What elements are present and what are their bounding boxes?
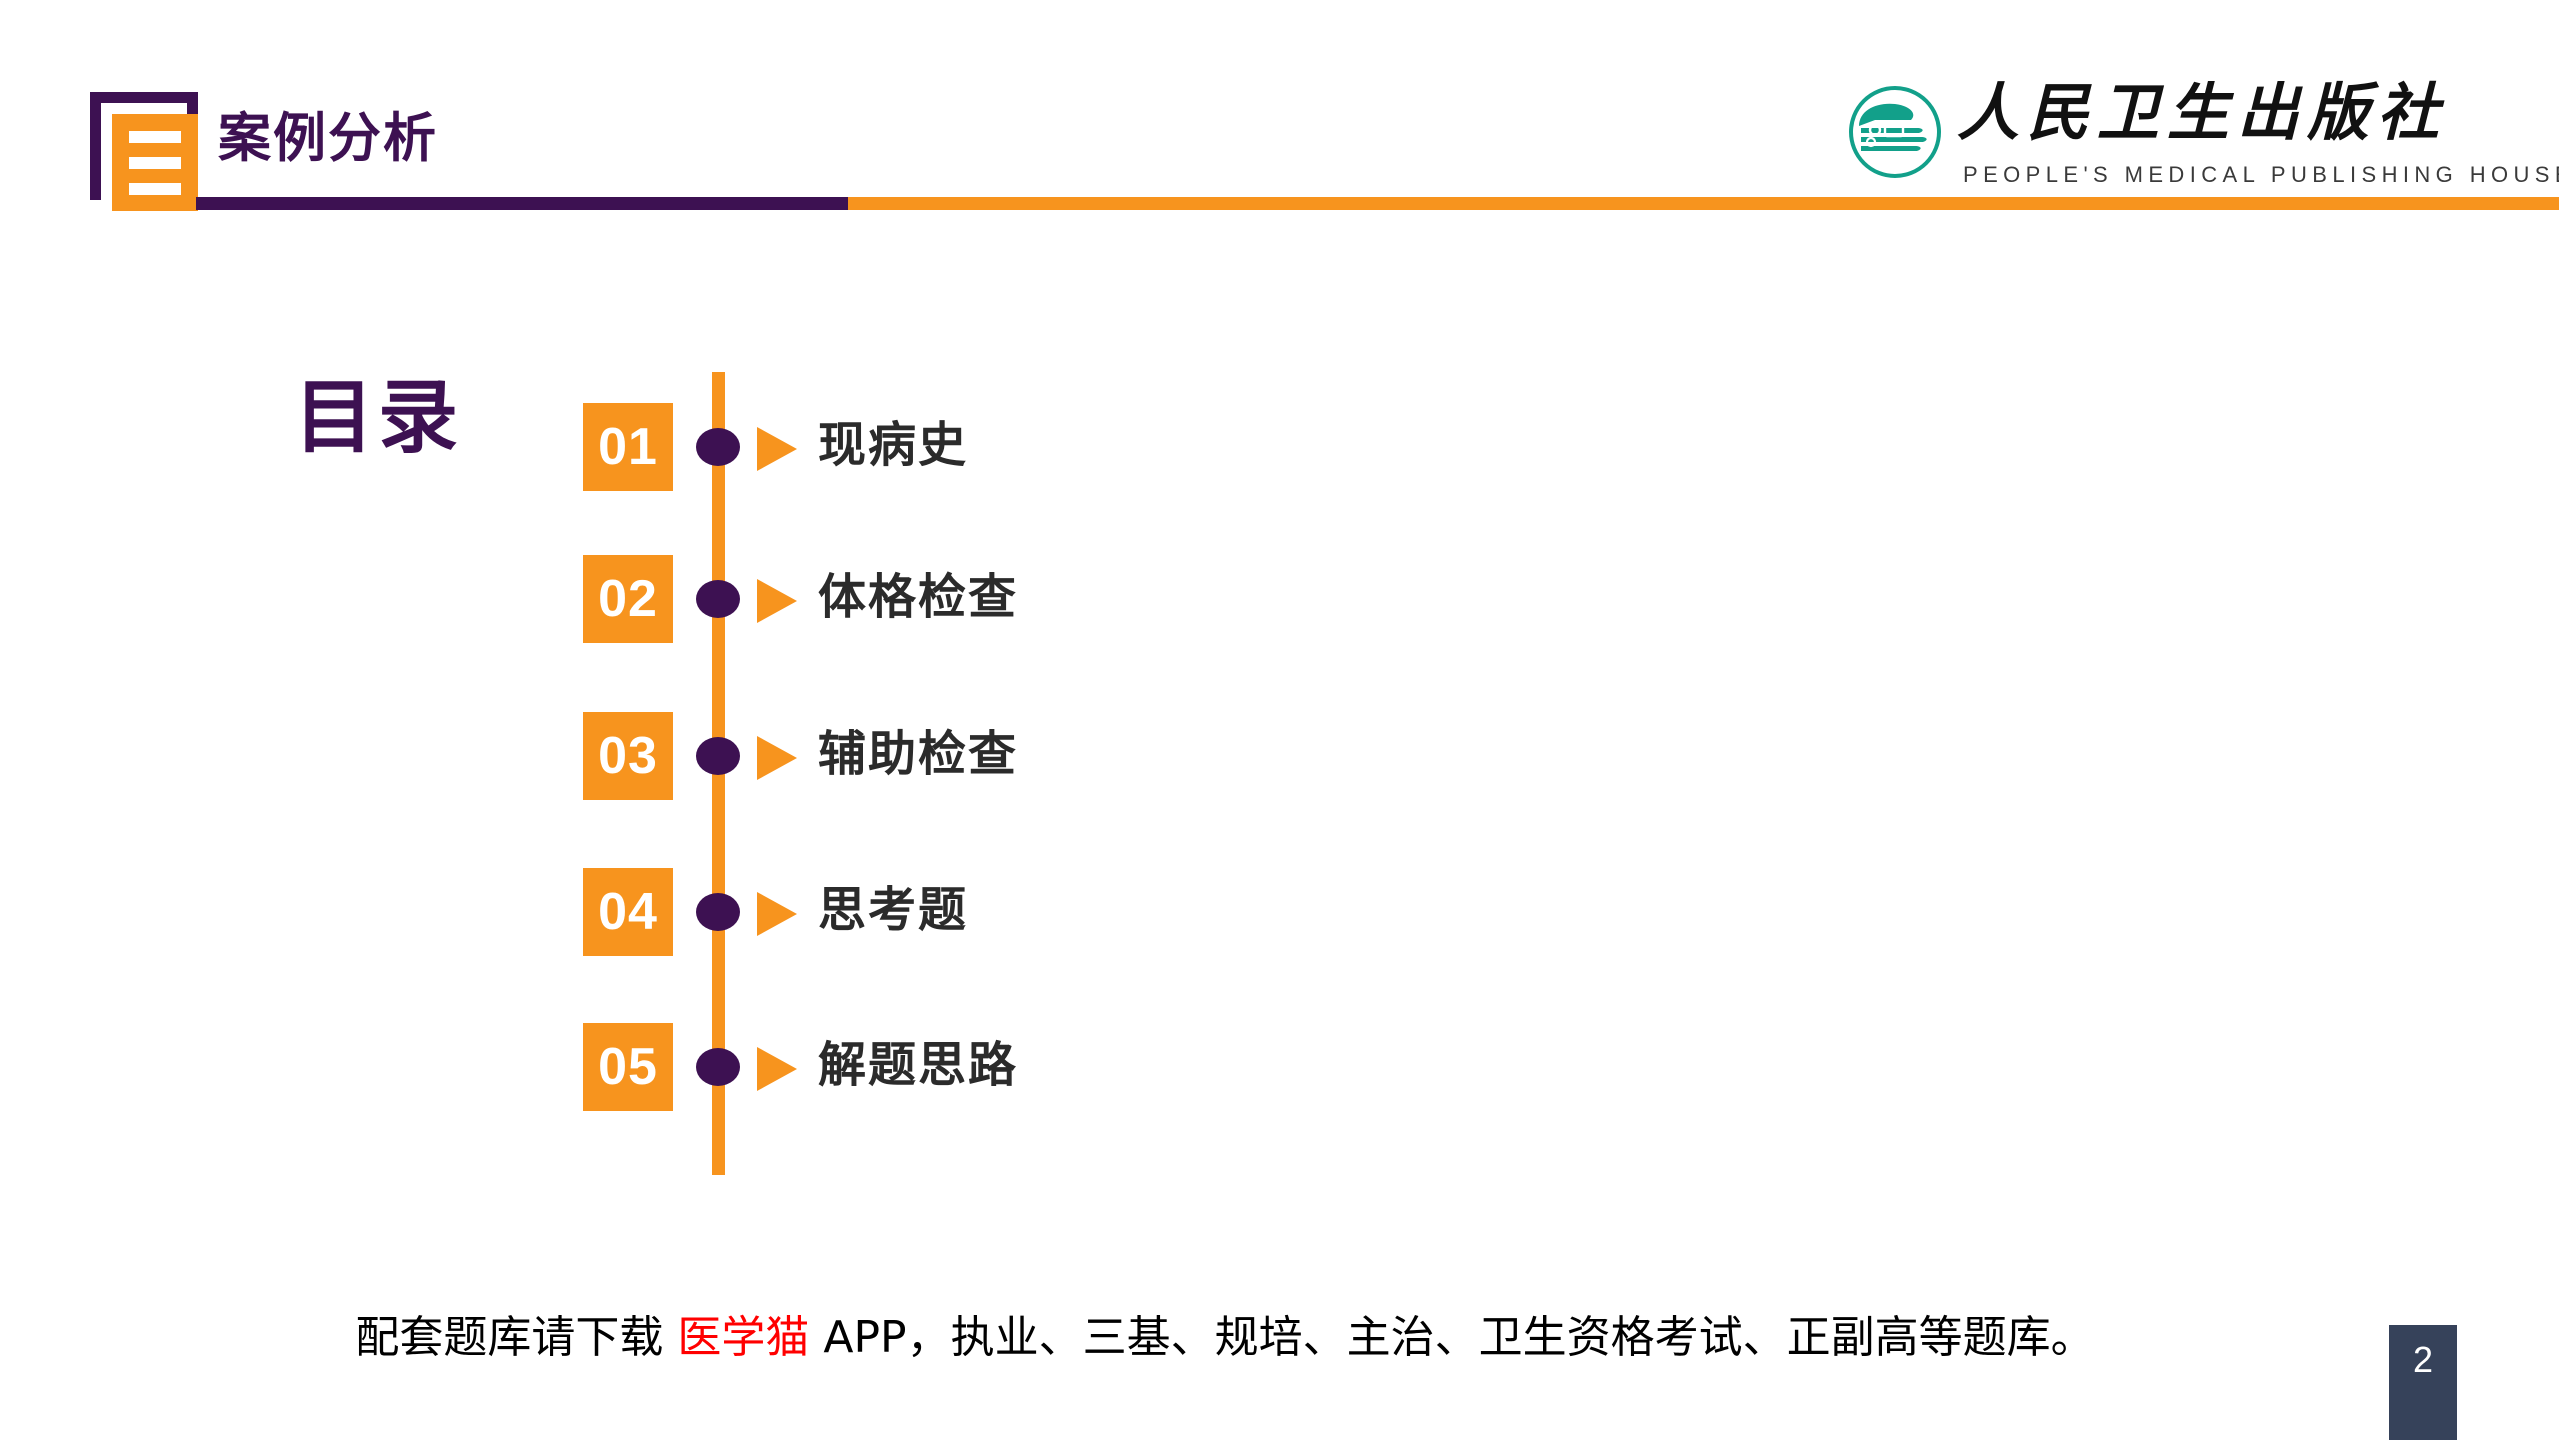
toc-item-04[interactable]: 04 思考题 — [0, 868, 1600, 1008]
play-triangle-icon — [757, 736, 797, 780]
toc-item-label: 现病史 — [818, 409, 968, 481]
timeline-dot-icon — [696, 428, 740, 466]
toc-number-badge: 01 — [583, 403, 673, 491]
list-menu-icon-bar-3 — [129, 183, 181, 195]
toc-item-02[interactable]: 02 体格检查 — [0, 555, 1600, 695]
page-title: 案例分析 — [218, 112, 438, 165]
footer-note-prefix: 配套题库请下载 — [355, 1312, 677, 1363]
page-number-label: 2 — [2389, 1339, 2457, 1381]
pmph-emblem-icon — [1845, 82, 1945, 182]
footer-note-highlight: 医学猫 — [677, 1312, 809, 1363]
toc-number-label: 01 — [598, 421, 658, 473]
timeline-dot-icon — [696, 737, 740, 775]
list-menu-icon-fill — [112, 114, 198, 211]
toc-item-label: 思考题 — [818, 874, 968, 946]
header-divider-orange — [848, 197, 2559, 210]
toc-number-label: 04 — [598, 886, 658, 938]
toc-item-label: 体格检查 — [818, 561, 1018, 633]
play-triangle-icon — [757, 427, 797, 471]
toc-number-label: 05 — [598, 1041, 658, 1093]
slide-header: 案例分析 人民卫生出版社 PEOPLE'S MEDICAL PUBLISHING… — [0, 0, 2559, 215]
toc-item-01[interactable]: 01 现病史 — [0, 403, 1600, 543]
toc-number-label: 03 — [598, 730, 658, 782]
list-menu-icon — [90, 92, 198, 200]
toc-number-badge: 02 — [583, 555, 673, 643]
toc-item-05[interactable]: 05 解题思路 — [0, 1023, 1600, 1163]
toc-number-badge: 04 — [583, 868, 673, 956]
publisher-name-cn: 人民卫生出版社 — [1957, 80, 2447, 145]
toc-item-label: 解题思路 — [818, 1029, 1018, 1101]
slide-root: 案例分析 人民卫生出版社 PEOPLE'S MEDICAL PUBLISHING… — [0, 0, 2559, 1440]
header-divider-purple — [196, 197, 848, 210]
publisher-logo: 人民卫生出版社 PEOPLE'S MEDICAL PUBLISHING HOUS… — [1845, 78, 2445, 193]
footer-note-suffix: APP，执业、三基、规培、主治、卫生资格考试、正副高等题库。 — [809, 1312, 2094, 1363]
list-menu-icon-bar-2 — [129, 157, 181, 169]
toc-number-label: 02 — [598, 573, 658, 625]
page-number-badge: 2 — [2389, 1325, 2457, 1440]
toc-item-label: 辅助检查 — [818, 718, 1018, 790]
list-menu-icon-bar-1 — [129, 131, 181, 143]
timeline-dot-icon — [696, 893, 740, 931]
timeline-dot-icon — [696, 1048, 740, 1086]
toc-item-03[interactable]: 03 辅助检查 — [0, 712, 1600, 852]
toc-number-badge: 05 — [583, 1023, 673, 1111]
publisher-name-en: PEOPLE'S MEDICAL PUBLISHING HOUSE — [1963, 162, 2559, 188]
play-triangle-icon — [757, 892, 797, 936]
toc-number-badge: 03 — [583, 712, 673, 800]
timeline-dot-icon — [696, 580, 740, 618]
footer-note: 配套题库请下载 医学猫 APP，执业、三基、规培、主治、卫生资格考试、正副高等题… — [0, 1312, 2450, 1365]
play-triangle-icon — [757, 1047, 797, 1091]
play-triangle-icon — [757, 579, 797, 623]
